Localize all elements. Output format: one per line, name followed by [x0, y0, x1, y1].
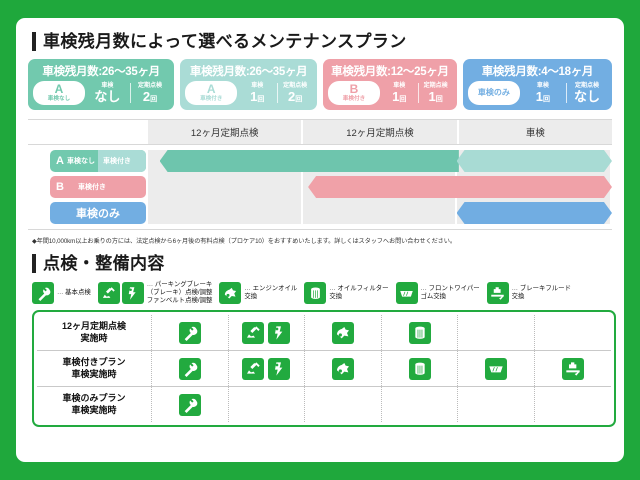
wrench-icon	[179, 394, 201, 416]
table-row: 車検のみプラン 車検実施時	[37, 387, 611, 423]
matrix-cell-oil-filter	[381, 351, 458, 387]
timeline-note: ◆年間10,000km以上お乗りの方には、法定点検から6ヶ月後の有料点検（プロケ…	[32, 236, 612, 245]
parking-brake-icon	[242, 358, 264, 380]
row-sub: 車検付き	[78, 182, 106, 192]
timeline-column-header-3: 車検	[459, 120, 612, 144]
row-sub: 車検なし	[67, 156, 95, 166]
section2-heading: 点検・整備内容	[32, 254, 612, 273]
plan-stat-shaken: 車検 1回	[383, 83, 415, 103]
legend-item-brake-fanbelt: … パーキングブレーキ （ブレーキ）点検/調整 ファンベルト点検/調整	[98, 281, 213, 305]
plan-grade-sub: 車検付き	[200, 96, 222, 102]
timeline-row-label-only: 車検のみ	[50, 202, 146, 224]
brake-fluid-icon	[562, 358, 584, 380]
plan-grade-badge: A 車検付き	[185, 81, 237, 105]
plan-card-shaken-only[interactable]: 車検残月数:4〜18ヶ月 車検のみ 車検 1回 定期点検 なし	[463, 59, 612, 110]
engine-oil-icon	[332, 322, 354, 344]
matrix-cell-wiper	[458, 315, 535, 351]
table-row: 車検付きプラン 車検実施時	[37, 351, 611, 387]
plan-stat-shaken: 車検 1回	[240, 83, 274, 103]
stat-unit: 回	[257, 96, 264, 103]
legend-item-engine-oil: … エンジンオイル 交換	[219, 282, 297, 304]
plan-stat-teiki: 定期点検 2回	[277, 83, 312, 103]
matrix-cell-wiper	[458, 387, 535, 423]
stat-number: 2	[143, 89, 150, 104]
heading-accent-bar	[32, 32, 36, 51]
stat-number: なし	[574, 89, 600, 104]
matrix-cell-engine-oil	[305, 387, 382, 423]
wrench-icon	[179, 322, 201, 344]
row-label-a-alt: 車検付き	[98, 150, 146, 172]
plan-grade-badge: B 車検付き	[328, 81, 380, 105]
fan-belt-icon	[122, 282, 144, 304]
page-title: 車検残月数によって選べるメンテナンスプラン	[43, 33, 407, 50]
legend-label: … パーキングブレーキ （ブレーキ）点検/調整 ファンベルト点検/調整	[147, 281, 213, 305]
timeline-row-label-b: B 車検付き	[50, 176, 146, 198]
stat-value: 2回	[131, 90, 170, 103]
page-root: 車検残月数によって選べるメンテナンスプラン 車検残月数:26〜35ヶ月 A 車検…	[0, 0, 640, 480]
wrench-icon	[179, 358, 201, 380]
matrix-cell-brake-fanbelt	[228, 387, 305, 423]
plan-grade-badge: A 車検なし	[33, 81, 85, 105]
oil-filter-icon	[304, 282, 326, 304]
row-letter: A	[56, 155, 64, 167]
matrix-cell-basic	[152, 315, 229, 351]
oil-filter-icon	[409, 322, 431, 344]
stat-number: 1	[429, 89, 436, 104]
matrix-cell-basic	[152, 351, 229, 387]
content-card: 車検残月数によって選べるメンテナンスプラン 車検残月数:26〜35ヶ月 A 車検…	[16, 18, 624, 462]
fan-belt-icon	[268, 358, 290, 380]
timeline-row-labels: A車検なし 車検付き B 車検付き 車検のみ	[28, 145, 148, 229]
stat-value: 2回	[278, 90, 312, 103]
stat-value: 1回	[240, 90, 274, 103]
stat-value: なし	[88, 90, 127, 103]
table-row: 12ヶ月定期点検 実施時	[37, 315, 611, 351]
stat-number: 1	[536, 89, 543, 104]
wrench-icon	[32, 282, 54, 304]
matrix-cell-oil-filter	[381, 315, 458, 351]
timeline-column-header-2: 12ヶ月定期点検	[303, 120, 456, 144]
timeline-row-label-a: A車検なし 車検付き	[50, 150, 146, 172]
section2-title: 点検・整備内容	[43, 255, 165, 272]
stat-number: なし	[94, 89, 120, 104]
matrix-cell-brake-fluid	[534, 351, 611, 387]
stat-unit: 回	[436, 96, 443, 103]
plan-stat-teiki: 定期点検 1回	[418, 83, 451, 103]
plan-months-label: 車検残月数:4〜18ヶ月	[468, 63, 607, 79]
stat-unit: 回	[399, 96, 406, 103]
plan-stat-teiki: 定期点検 2回	[130, 83, 170, 103]
plan-grade-label: 車検のみ	[478, 89, 510, 97]
legend-label: … オイルフィルター 交換	[329, 285, 388, 301]
wiper-icon	[485, 358, 507, 380]
timeline-header-row: 12ヶ月定期点検 12ヶ月定期点検 車検	[28, 119, 612, 145]
timeline-chart: 12ヶ月定期点検 12ヶ月定期点検 車検 A車検なし 車検付き B 車検付き 車…	[28, 119, 612, 230]
matrix-cell-oil-filter	[381, 387, 458, 423]
timeline-columns	[148, 145, 612, 229]
plan-card-a-no-shaken[interactable]: 車検残月数:26〜35ヶ月 A 車検なし 車検 なし 定期点検 2回	[28, 59, 174, 110]
timeline-col-3	[457, 150, 610, 224]
matrix-cell-engine-oil	[305, 351, 382, 387]
row-label-a-main: A車検なし	[50, 155, 98, 167]
plan-months-label: 車検残月数:26〜35ヶ月	[185, 63, 312, 79]
legend-label: … 基本点検	[57, 289, 91, 297]
legend-item-oil-filter: … オイルフィルター 交換	[304, 282, 388, 304]
matrix-row-label-shaken-plan: 車検付きプラン 車検実施時	[37, 351, 152, 387]
plan-stat-shaken: 車検 なし	[88, 83, 127, 103]
plan-months-label: 車検残月数:12〜25ヶ月	[328, 63, 452, 79]
matrix-cell-engine-oil	[305, 315, 382, 351]
plan-months-label: 車検残月数:26〜35ヶ月	[33, 63, 169, 79]
plan-card-b-with-shaken[interactable]: 車検残月数:12〜25ヶ月 B 車検付き 車検 1回 定期点検 1回	[323, 59, 457, 110]
matrix-cell-brake-fanbelt	[228, 351, 305, 387]
brake-fluid-icon	[487, 282, 509, 304]
plan-stat-teiki: 定期点検 なし	[566, 83, 607, 103]
icon-legend: … 基本点検 … パーキングブレーキ （ブレーキ）点検/調整 ファンベルト点検/…	[32, 281, 612, 305]
timeline-col-1	[148, 150, 301, 224]
plan-grade-letter: A	[207, 83, 216, 95]
engine-oil-icon	[219, 282, 241, 304]
stat-value: なし	[567, 90, 607, 103]
plan-grade-letter: B	[350, 83, 359, 95]
plan-grade-letter: A	[55, 83, 64, 95]
matrix-row-label-shaken-only-plan: 車検のみプラン 車検実施時	[37, 387, 152, 423]
matrix-cell-brake-fluid	[534, 387, 611, 423]
legend-item-basic-inspection: … 基本点検	[32, 282, 91, 304]
row-letter: B	[56, 181, 64, 193]
stat-unit: 回	[543, 96, 550, 103]
parking-brake-icon	[98, 282, 120, 304]
stat-value: 1回	[419, 90, 451, 103]
maintenance-matrix: 12ヶ月定期点検 実施時	[37, 315, 611, 422]
timeline-column-header-1: 12ヶ月定期点検	[148, 120, 301, 144]
heading-accent-bar	[32, 254, 36, 273]
legend-item-brake-fluid: … ブレーキフルード 交換	[487, 282, 571, 304]
matrix-cell-wiper	[458, 351, 535, 387]
timeline-body: A車検なし 車検付き B 車検付き 車検のみ	[28, 145, 612, 230]
legend-label: … フロントワイパー ゴム交換	[421, 285, 480, 301]
legend-item-wiper: … フロントワイパー ゴム交換	[396, 282, 480, 304]
stat-unit: 回	[150, 96, 157, 103]
plan-card-a-with-shaken[interactable]: 車検残月数:26〜35ヶ月 A 車検付き 車検 1回 定期点検 2回	[180, 59, 317, 110]
legend-label: … エンジンオイル 交換	[244, 285, 297, 301]
plan-grade-sub: 車検なし	[48, 96, 70, 102]
plan-grade-badge: 車検のみ	[468, 81, 520, 105]
plan-card-list: 車検残月数:26〜35ヶ月 A 車検なし 車検 なし 定期点検 2回	[28, 59, 612, 110]
matrix-cell-brake-fluid	[534, 315, 611, 351]
legend-label: … ブレーキフルード 交換	[512, 285, 571, 301]
oil-filter-icon	[409, 358, 431, 380]
fan-belt-icon	[268, 322, 290, 344]
stat-value: 1回	[383, 90, 415, 103]
matrix-cell-basic	[152, 387, 229, 423]
section1-heading: 車検残月数によって選べるメンテナンスプラン	[32, 32, 612, 51]
matrix-cell-brake-fanbelt	[228, 315, 305, 351]
maintenance-matrix-container: 12ヶ月定期点検 実施時	[32, 310, 616, 427]
engine-oil-icon	[332, 358, 354, 380]
timeline-col-2	[303, 150, 456, 224]
stat-unit: 回	[295, 96, 302, 103]
timeline-header-spacer	[28, 120, 148, 144]
plan-grade-sub: 車検付き	[343, 96, 365, 102]
parking-brake-icon	[242, 322, 264, 344]
plan-stat-shaken: 車検 1回	[523, 83, 563, 103]
stat-value: 1回	[523, 90, 563, 103]
matrix-row-label-12month: 12ヶ月定期点検 実施時	[37, 315, 152, 351]
wiper-icon	[396, 282, 418, 304]
